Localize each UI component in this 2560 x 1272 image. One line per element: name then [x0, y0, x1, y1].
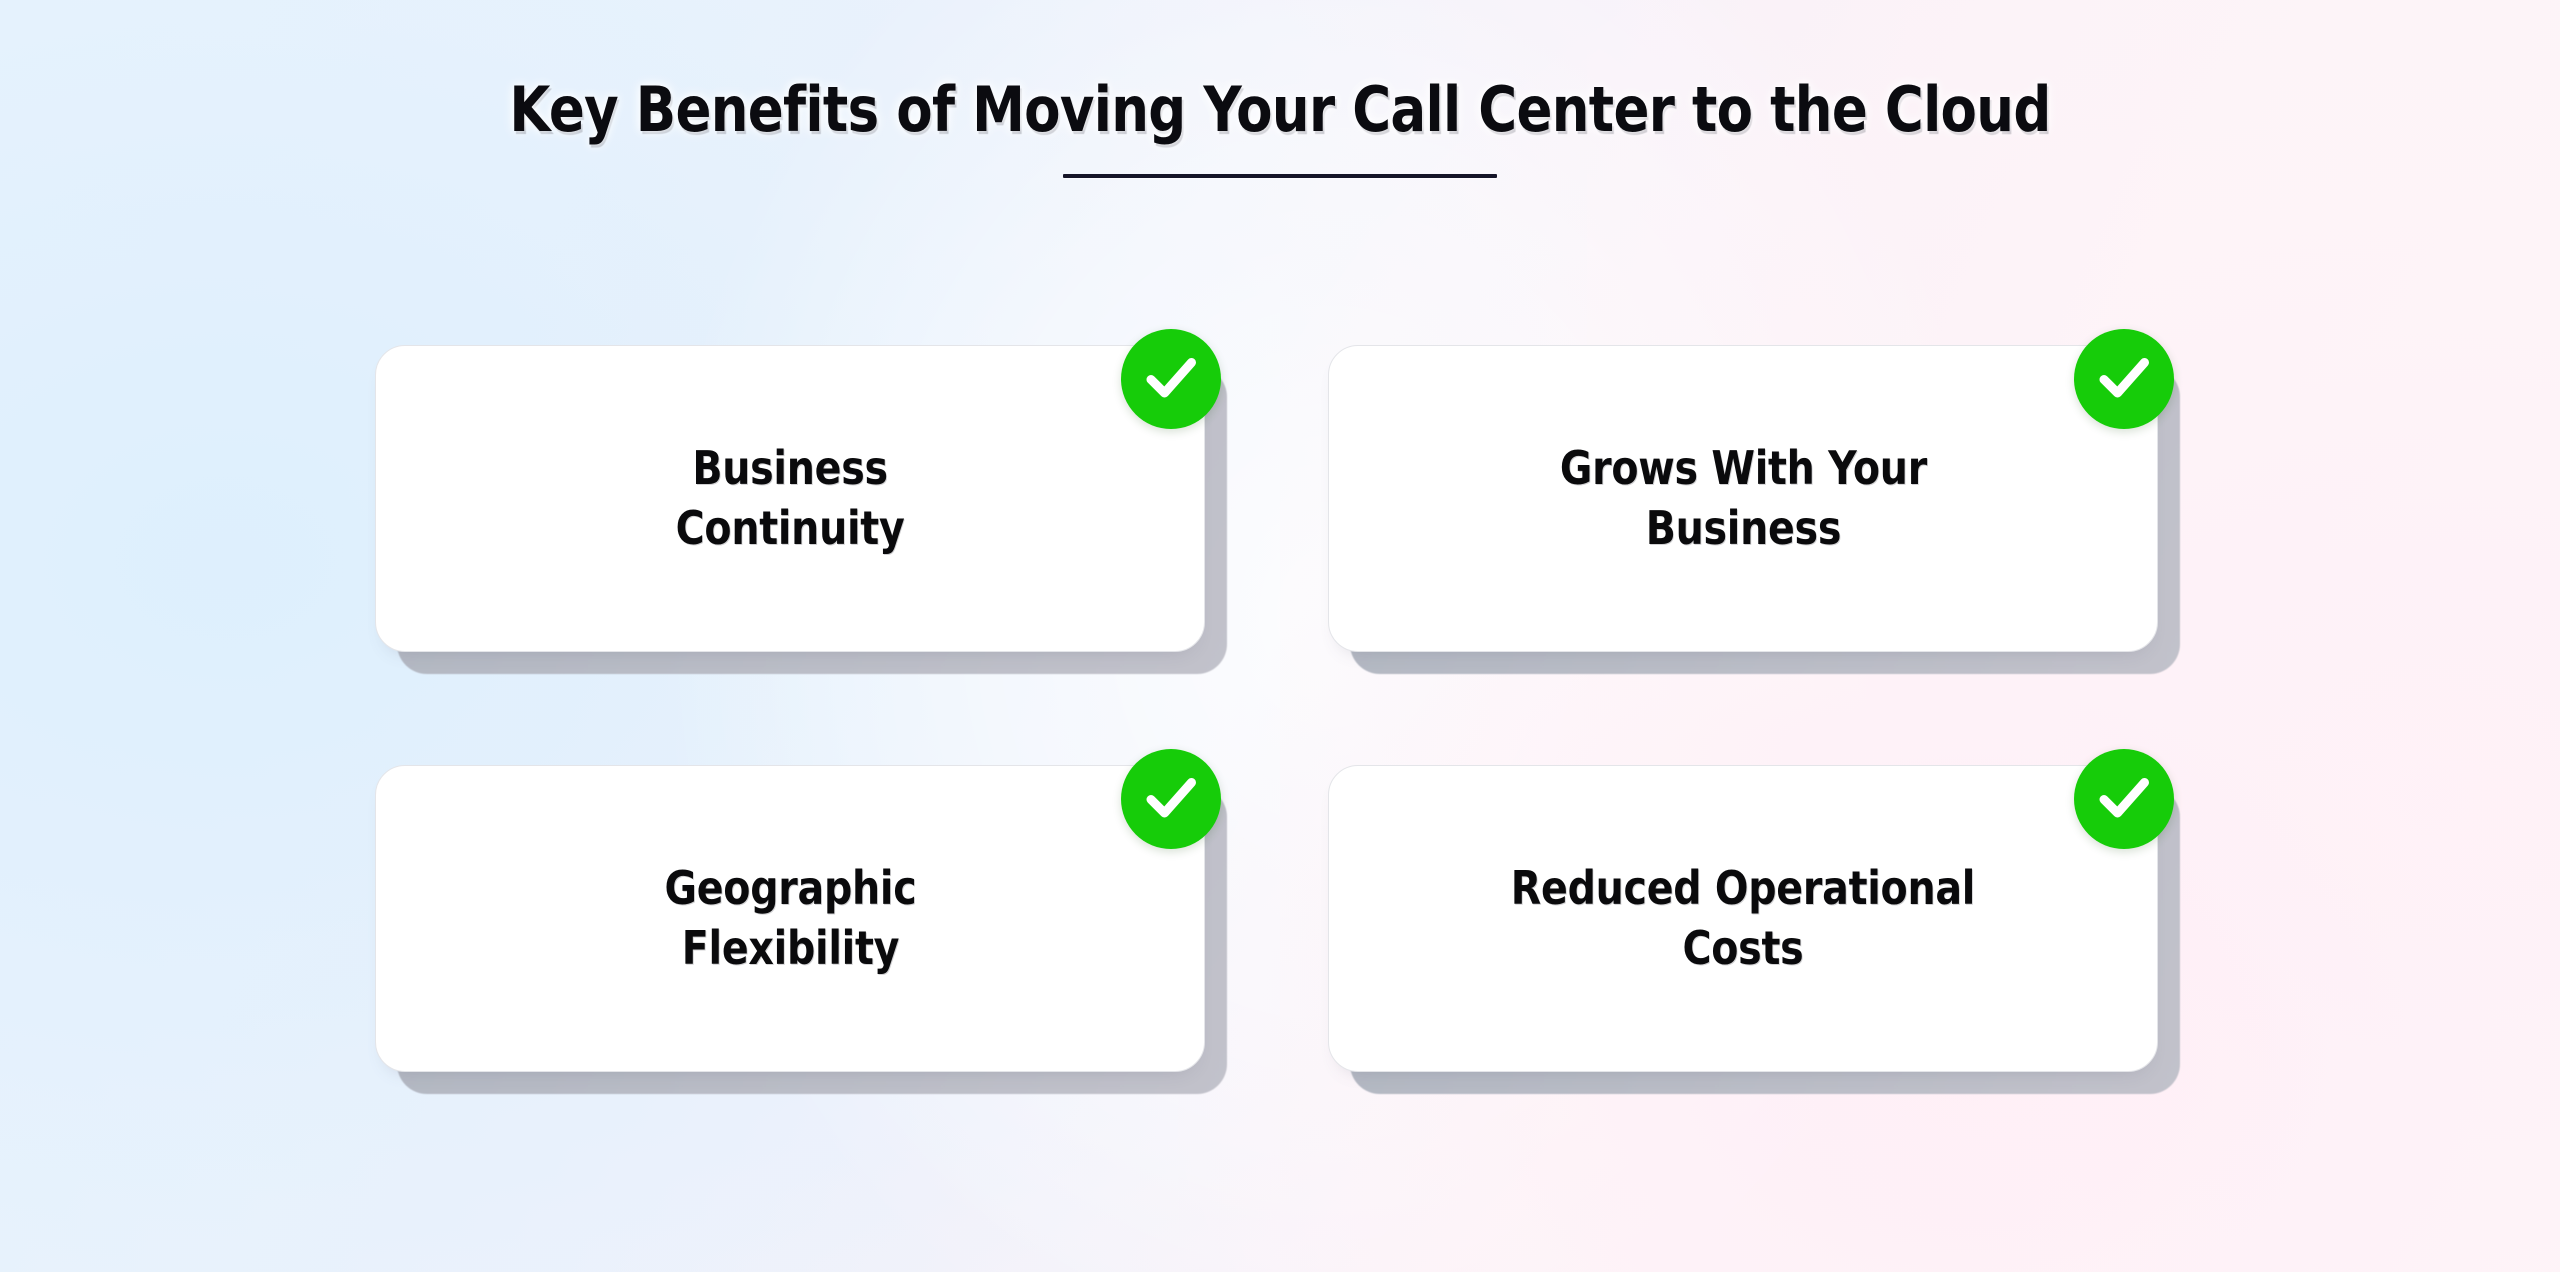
header: Key Benefits of Moving Your Call Center …: [0, 78, 2560, 178]
benefit-card-title: Grows With Your Business: [1559, 439, 1926, 559]
page-title: Key Benefits of Moving Your Call Center …: [186, 78, 2375, 142]
benefit-card-slot: Business Continuity: [375, 345, 1205, 652]
benefit-card-slot: Grows With Your Business: [1328, 345, 2158, 652]
benefit-card-slot: Reduced Operational Costs: [1328, 765, 2158, 1072]
benefit-card-title: Reduced Operational Costs: [1511, 859, 1975, 979]
check-icon: [1139, 766, 1203, 830]
benefit-card-title: Business Continuity: [676, 439, 905, 559]
benefit-card-reduced-operational-costs[interactable]: Reduced Operational Costs: [1328, 765, 2158, 1072]
check-icon: [1139, 346, 1203, 410]
benefit-card-title: Geographic Flexibility: [664, 859, 916, 979]
benefit-card-geographic-flexibility[interactable]: Geographic Flexibility: [375, 765, 1205, 1072]
check-badge[interactable]: [1121, 749, 1221, 849]
check-badge[interactable]: [2074, 329, 2174, 429]
benefits-grid: Business Continuity Grows With Your Busi…: [375, 345, 2240, 1072]
check-badge[interactable]: [2074, 749, 2174, 849]
benefit-card-slot: Geographic Flexibility: [375, 765, 1205, 1072]
slide-stage: Key Benefits of Moving Your Call Center …: [0, 0, 2560, 1272]
title-divider: [1063, 174, 1497, 178]
check-badge[interactable]: [1121, 329, 1221, 429]
check-icon: [2092, 346, 2156, 410]
benefit-card-business-continuity[interactable]: Business Continuity: [375, 345, 1205, 652]
benefit-card-grows-with-your-business[interactable]: Grows With Your Business: [1328, 345, 2158, 652]
check-icon: [2092, 766, 2156, 830]
